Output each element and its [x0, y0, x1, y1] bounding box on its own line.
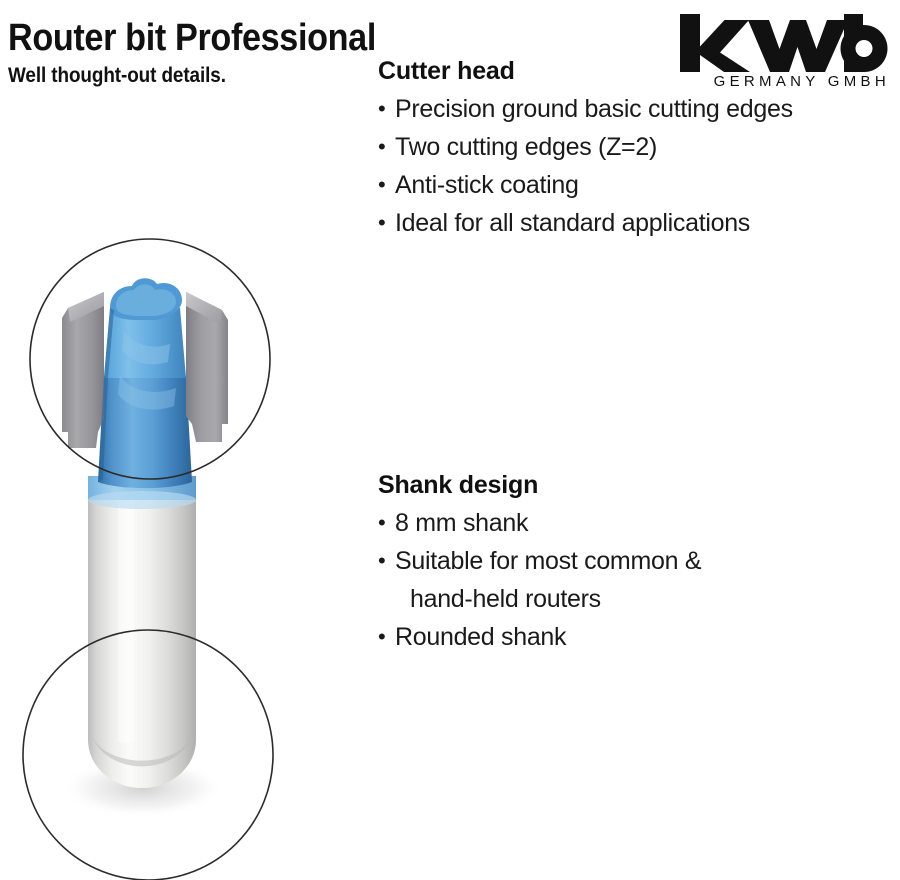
callout-shank-design-heading: Shank design — [378, 470, 888, 500]
callout-cutter-head: Cutter head Precision ground basic cutti… — [378, 56, 888, 242]
product-illustration — [0, 180, 360, 880]
page-title: Router bit Professional — [8, 18, 376, 58]
list-item-continuation: hand-held routers — [378, 580, 888, 618]
router-bit-graphic — [0, 180, 360, 880]
list-item: Anti-stick coating — [378, 166, 888, 204]
callout-cutter-head-list: Precision ground basic cutting edges Two… — [378, 90, 888, 242]
list-item: Precision ground basic cutting edges — [378, 90, 888, 128]
list-item: Ideal for all standard applications — [378, 204, 888, 242]
callout-cutter-head-heading: Cutter head — [378, 56, 888, 86]
list-item: 8 mm shank — [378, 504, 888, 542]
callout-shank-design-list: 8 mm shank Suitable for most common & ha… — [378, 504, 888, 656]
page-subtitle: Well thought-out details. — [8, 64, 376, 88]
list-item: Rounded shank — [378, 618, 888, 656]
title-block: Router bit Professional Well thought-out… — [8, 18, 417, 88]
product-infographic: Router bit Professional Well thought-out… — [0, 0, 900, 880]
list-item: Two cutting edges (Z=2) — [378, 128, 888, 166]
list-item: Suitable for most common & — [378, 542, 888, 580]
callout-shank-design: Shank design 8 mm shank Suitable for mos… — [378, 470, 888, 656]
